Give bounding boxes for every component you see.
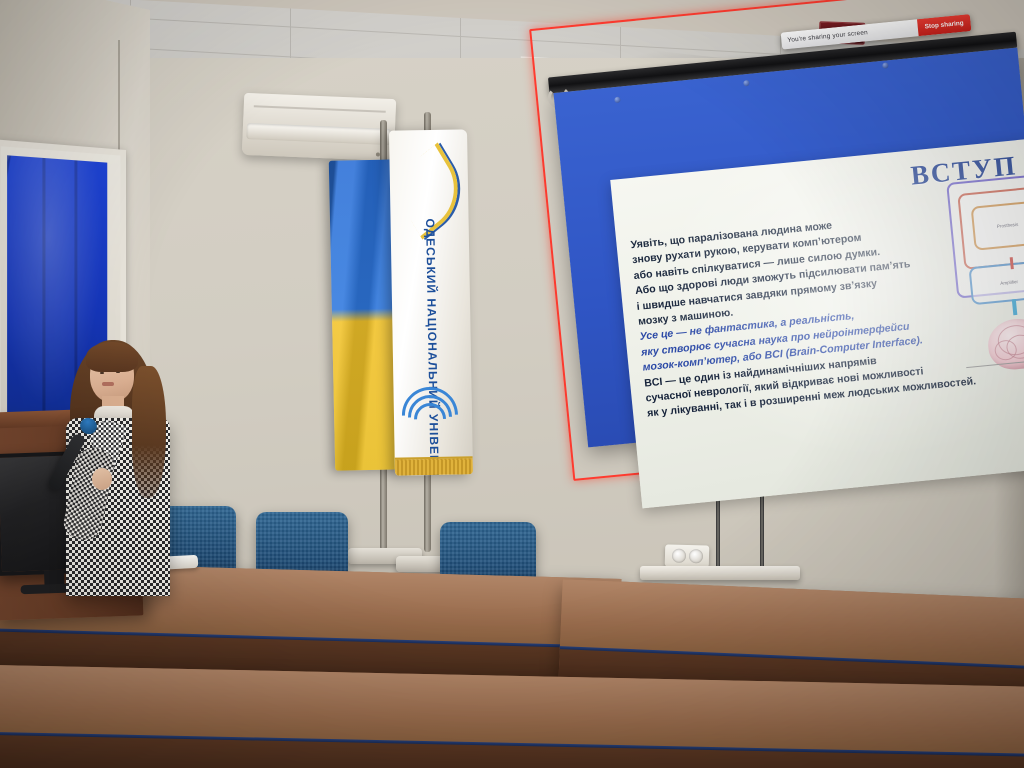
- presenter-hand: [92, 468, 112, 490]
- presenter-hair-side: [132, 366, 166, 498]
- presenter: [44, 336, 178, 596]
- slide: ВСТУП Уявіть, що паралізована людина мож…: [610, 138, 1024, 508]
- air-conditioner: [242, 93, 396, 161]
- presenter-lips: [102, 382, 114, 386]
- diagram-arrow-blue: [1012, 299, 1018, 315]
- wall-outlet: [665, 544, 710, 567]
- slide-body: Уявіть, що паралізована людина може знов…: [630, 208, 959, 422]
- diagram-blue-label: Amplifier: [1000, 279, 1018, 286]
- diagram-inner-box: Prosthesis: [971, 200, 1024, 251]
- university-banner: ОДЕСЬКИЙ НАЦІОНАЛЬНИЙ УНІВЕРСИТЕТ: [389, 129, 473, 475]
- mic-stand-base: [640, 566, 800, 580]
- lecture-hall-photo: ПОЖЕЖА ОДЕСЬКИЙ НАЦІОНАЛЬНИЙ УНІВЕРСИТЕТ: [0, 0, 1024, 768]
- banner-text: ОДЕСЬКИЙ НАЦІОНАЛЬНИЙ УНІВЕРСИТЕТ: [422, 218, 438, 296]
- presenter-hair-front: [86, 342, 138, 372]
- banner-fringe: [395, 456, 473, 475]
- air-conditioner-vent: [246, 123, 391, 145]
- projection-area: ВСТУП Уявіть, що паралізована людина мож…: [520, 0, 1024, 486]
- presentation-frame: ВСТУП Уявіть, що паралізована людина мож…: [553, 48, 1024, 448]
- slide-diagram: Prosthesis Amplifier: [942, 174, 1024, 372]
- diagram-inner-label: Prosthesis: [997, 222, 1019, 229]
- banner-arcs-icon: [401, 387, 460, 428]
